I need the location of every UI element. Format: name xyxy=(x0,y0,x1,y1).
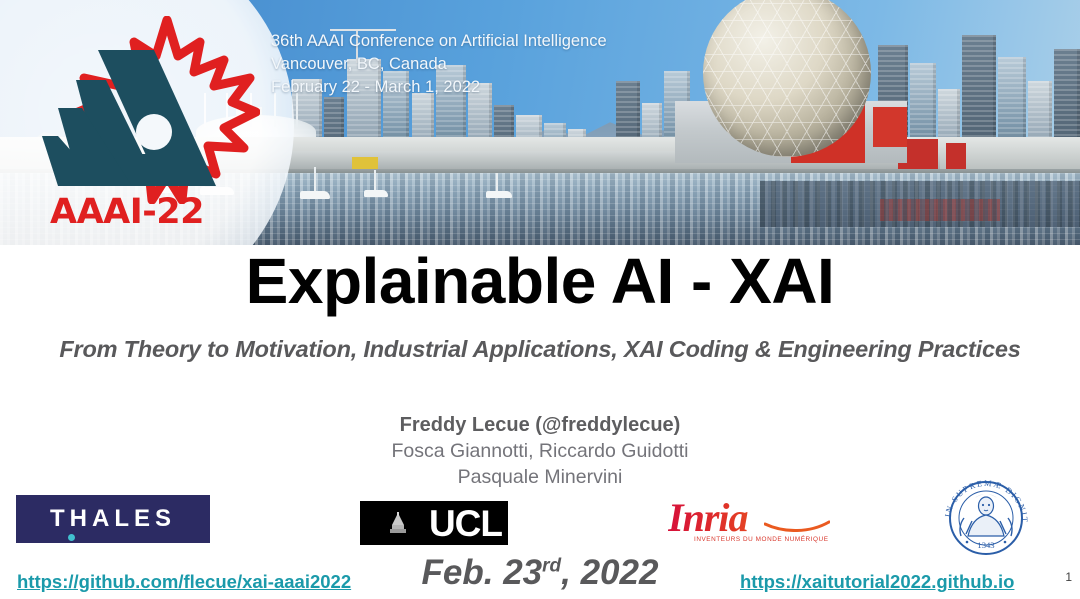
tutorial-site-link[interactable]: https://xaitutorial2022.github.io xyxy=(740,571,1014,593)
conference-location: Vancouver, BC, Canada xyxy=(271,53,607,76)
aaai-triangle-a-icon xyxy=(36,50,216,186)
ucl-logo: UCL xyxy=(360,501,508,545)
aaai-22-logo: AAAI-22 xyxy=(18,14,228,226)
science-world-dome xyxy=(703,0,875,157)
inria-tagline: INVENTEURS DU MONDE NUMÉRIQUE xyxy=(694,536,829,543)
page-title: Explainable AI - XAI xyxy=(0,244,1080,318)
conference-info: 36th AAAI Conference on Artificial Intel… xyxy=(271,30,607,99)
page-subtitle: From Theory to Motivation, Industrial Ap… xyxy=(0,336,1080,363)
inria-wordmark: Inria xyxy=(668,498,830,538)
ucl-dome-icon xyxy=(388,512,408,534)
date-ordinal: rd xyxy=(542,555,561,576)
conference-dates: February 22 - March 1, 2022 xyxy=(271,76,607,99)
conference-name: 36th AAAI Conference on Artificial Intel… xyxy=(271,30,607,53)
date-main: Feb. 23 xyxy=(422,553,543,592)
ucl-wordmark: UCL xyxy=(429,505,502,542)
author-line-3: Pasquale Minervini xyxy=(0,464,1080,490)
slide: 36th AAAI Conference on Artificial Intel… xyxy=(0,0,1080,599)
thales-dot-icon xyxy=(68,534,75,541)
inria-swoosh-icon xyxy=(764,520,830,532)
title-banner-image: 36th AAAI Conference on Artificial Intel… xyxy=(0,0,1080,245)
aaai-wordmark: AAAI-22 xyxy=(32,192,222,232)
thales-logo: THALES xyxy=(16,495,210,543)
inria-logo: Inria INVENTEURS DU MONDE NUMÉRIQUE xyxy=(668,498,830,548)
red-reflection xyxy=(880,199,1000,221)
author-block: Freddy Lecue (@freddylecue) Fosca Gianno… xyxy=(0,412,1080,490)
pisa-year: 1343 xyxy=(977,540,994,550)
date-year: , 2022 xyxy=(561,553,658,592)
author-line-2: Fosca Giannotti, Riccardo Guidotti xyxy=(0,438,1080,464)
thales-wordmark: THALES xyxy=(50,505,176,533)
author-lead: Freddy Lecue (@freddylecue) xyxy=(0,412,1080,438)
page-number: 1 xyxy=(1065,570,1072,584)
